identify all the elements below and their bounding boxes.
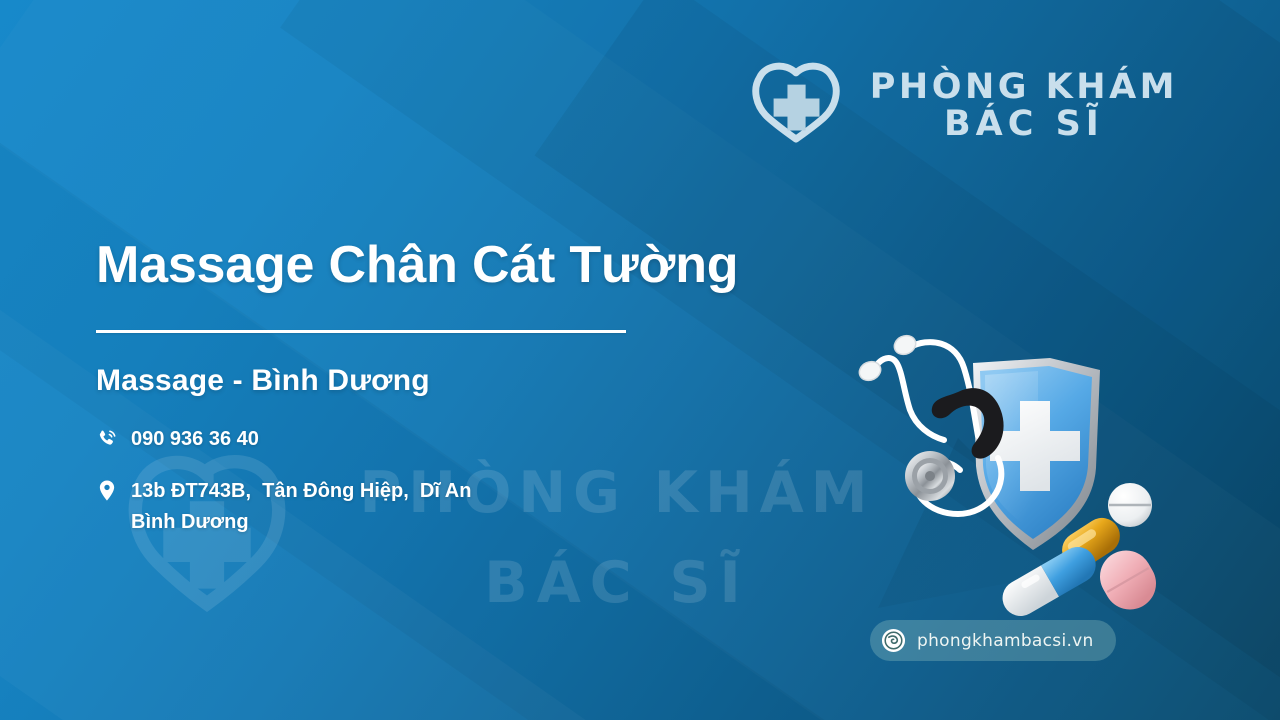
globe-icon [881, 628, 906, 653]
clinic-banner: PHÒNG KHÁM BÁC SĨ PHÒNG KHÁM BÁC SĨ Mass… [0, 0, 1280, 720]
stethoscope-shield-pills-illustration [838, 318, 1178, 628]
brand-logo: PHÒNG KHÁM BÁC SĨ [740, 58, 1178, 154]
medical-cross-heart-icon [740, 58, 852, 154]
map-pin-icon [96, 478, 118, 504]
phone-number: 090 936 36 40 [131, 424, 259, 455]
address: 13b ĐT743B, Tân Đông Hiệp, Dĩ An Bình Dư… [131, 476, 471, 538]
watermark-line-2: BÁC SĨ [317, 538, 917, 628]
divider [96, 330, 626, 333]
stethoscope-chestpiece [905, 451, 955, 501]
phone-row[interactable]: 090 936 36 40 [96, 424, 816, 455]
info-block: Massage Chân Cát Tường Massage - Bình Dư… [96, 236, 816, 538]
address-line-2: Bình Dương [131, 511, 249, 533]
phone-call-icon [96, 426, 118, 452]
brand-line-1: PHÒNG KHÁM [870, 69, 1178, 106]
address-line-1: 13b ĐT743B, Tân Đông Hiệp, Dĩ An [131, 480, 471, 502]
brand-line-2: BÁC SĨ [870, 106, 1178, 143]
page-title: Massage Chân Cát Tường [96, 236, 816, 294]
stethoscope-earpiece [891, 332, 919, 358]
white-round-tablet [1108, 483, 1152, 527]
subtitle-category-location: Massage - Bình Dương [96, 364, 816, 398]
brand-name: PHÒNG KHÁM BÁC SĨ [870, 69, 1178, 144]
website-url: phongkhambacsi.vn [917, 631, 1094, 651]
address-row[interactable]: 13b ĐT743B, Tân Đông Hiệp, Dĩ An Bình Dư… [96, 476, 816, 538]
